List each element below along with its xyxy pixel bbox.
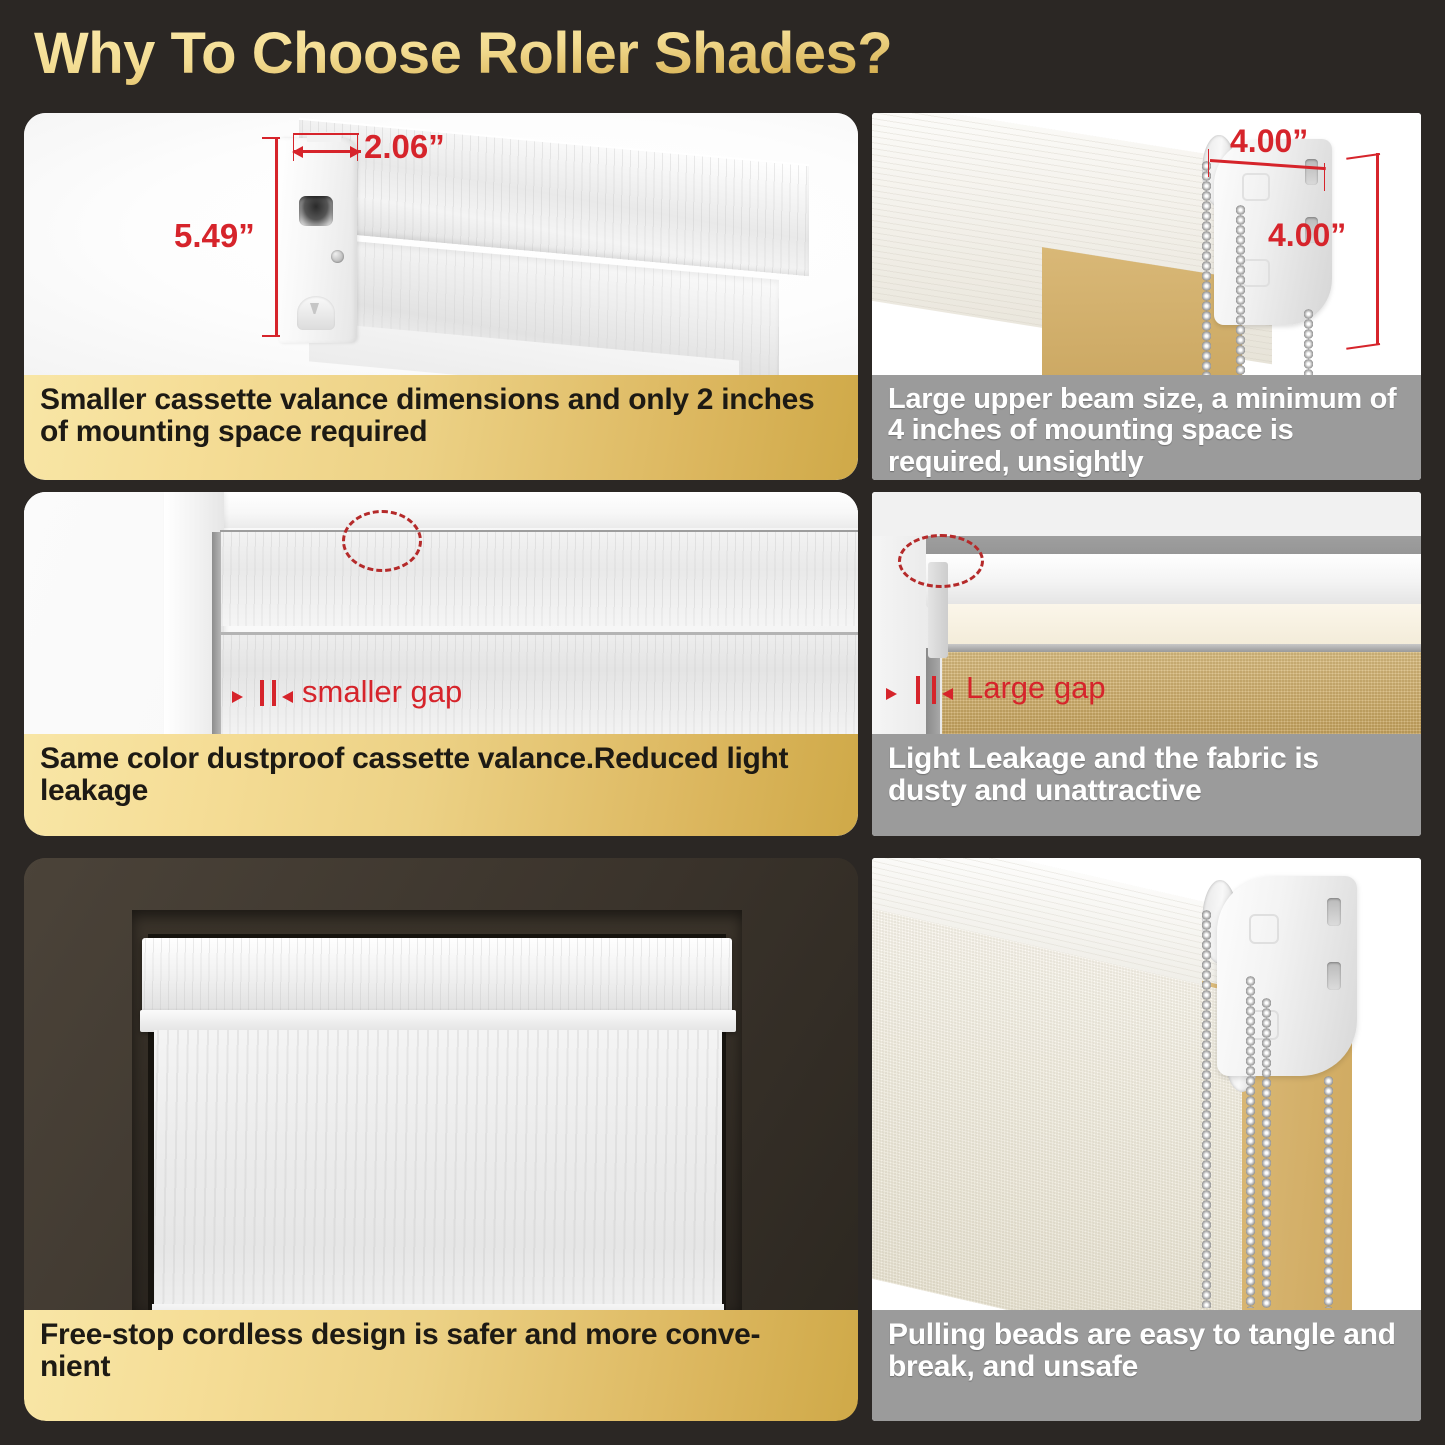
caption-text-line-2: nient xyxy=(40,1350,110,1383)
photo-window-corner-cassette: smaller gap xyxy=(24,492,858,734)
roller-bracket-head xyxy=(1217,876,1357,1076)
caption-text: Light Leakage and the fabric is dusty an… xyxy=(888,742,1319,807)
panel-bad-pull-beads: Pulling beads are easy to tangle and bre… xyxy=(872,858,1421,1421)
bracket-slot-lower xyxy=(1327,962,1341,990)
dim-tick-bottom xyxy=(1346,343,1380,350)
gap-mark-left xyxy=(260,680,264,706)
highlight-circle-icon xyxy=(898,534,984,588)
caption-good-dustproof-valance: Same color dustproof cassette valance.Re… xyxy=(24,734,858,836)
photo-large-upper-beam: 4.00” 4.00” xyxy=(872,113,1421,375)
caption-good-mounting-space: Smaller cassette valance dimensions and … xyxy=(24,375,858,480)
photo-installed-shade-with-hand xyxy=(24,858,858,1310)
gap-label-smaller: smaller gap xyxy=(302,674,462,710)
gap-arrow-right xyxy=(942,688,953,700)
end-cap-screw xyxy=(331,250,344,263)
shade-fabric xyxy=(154,1030,722,1310)
caption-bad-pull-beads: Pulling beads are easy to tangle and bre… xyxy=(872,1310,1421,1421)
shade-fabric-cream xyxy=(936,604,1421,646)
dimension-label-width: 4.00” xyxy=(1230,123,1308,160)
caption-text: Smaller cassette valance dimensions and … xyxy=(40,383,814,448)
gap-mark-right xyxy=(272,680,276,706)
caption-text: Same color dustproof cassette valance.Re… xyxy=(40,742,788,807)
highlight-circle-icon xyxy=(342,510,422,572)
end-cap-knob xyxy=(297,296,335,330)
caption-text: Pulling beads are easy to tangle and bre… xyxy=(888,1318,1396,1383)
bracket-emboss-lower xyxy=(1242,259,1270,287)
roller-tube-white xyxy=(926,554,1421,608)
bracket-slot-upper xyxy=(1305,159,1318,185)
gap-arrow-left xyxy=(232,691,243,703)
dimension-label-width: 2.06” xyxy=(364,128,445,166)
panel-good-dustproof-valance: smaller gap Same color dustproof cassett… xyxy=(24,492,858,836)
wall-upper xyxy=(872,492,1421,538)
photo-roller-with-bead-chains xyxy=(872,858,1421,1310)
dim-arrow-width-left xyxy=(292,146,303,158)
dim-arrow-width-right xyxy=(350,146,361,158)
cassette-valance xyxy=(142,938,732,1016)
dim-tick-top xyxy=(262,137,280,139)
dimension-label-height: 5.49” xyxy=(174,217,255,255)
bracket-emboss-upper xyxy=(1242,173,1270,201)
cassette-valance-lip xyxy=(140,1010,736,1032)
dimension-label-height: 4.00” xyxy=(1268,217,1346,254)
gap-mark-right xyxy=(932,676,936,704)
cassette-valance-face xyxy=(220,530,858,626)
bead-chain-2 xyxy=(1246,976,1255,1308)
window-head-trim xyxy=(164,492,858,528)
caption-bad-light-leakage: Light Leakage and the fabric is dusty an… xyxy=(872,734,1421,836)
dim-ext-left xyxy=(1208,149,1209,177)
bead-chain-1 xyxy=(1202,910,1211,1308)
caption-text-line-1: Free-stop cordless design is safer and m… xyxy=(40,1318,760,1351)
bead-chain-middle xyxy=(1236,205,1245,375)
caption-bad-beam-size: Large upper beam size, a minimum of 4 in… xyxy=(872,375,1421,480)
gap-arrow-left xyxy=(886,688,897,700)
page-title: Why To Choose Roller Shades? xyxy=(34,21,1034,87)
bead-chain-3 xyxy=(1262,998,1271,1308)
bead-chain-right xyxy=(1304,309,1313,375)
caption-text: Large upper beam size, a minimum of 4 in… xyxy=(888,383,1396,478)
caption-good-cordless-design: Free-stop cordless design is safer and m… xyxy=(24,1310,858,1421)
dim-line-height xyxy=(275,137,278,337)
gap-label-large: Large gap xyxy=(966,670,1106,706)
dim-tick-bottom xyxy=(262,335,280,337)
dim-line-height xyxy=(1376,153,1379,345)
panel-good-cordless-design: Free-stop cordless design is safer and m… xyxy=(24,858,858,1421)
infographic-root: Why To Choose Roller Shades? 2.06” xyxy=(0,0,1445,1445)
bead-chain-4 xyxy=(1324,1076,1333,1308)
panel-good-mounting-space: 2.06” 5.49” Smaller cassette valance dim… xyxy=(24,113,858,480)
gap-mark-left xyxy=(916,676,920,704)
end-cap-slot xyxy=(299,196,333,226)
gap-shadow-small xyxy=(212,532,221,734)
bracket-slot-upper xyxy=(1327,898,1341,926)
photo-cassette-valance-closeup: 2.06” 5.49” xyxy=(24,113,858,375)
dim-line-width-top xyxy=(293,133,359,135)
panel-bad-light-leakage: Large gap Light Leakage and the fabric i… xyxy=(872,492,1421,836)
bead-chain-left xyxy=(1202,161,1211,375)
panel-bad-beam-size: 4.00” 4.00” Large upper beam size, a min… xyxy=(872,113,1421,480)
gap-arrow-right xyxy=(282,691,293,703)
roller-metal-edge xyxy=(932,644,1421,652)
photo-window-corner-exposed-roller: Large gap xyxy=(872,492,1421,734)
bracket-emboss-upper xyxy=(1249,914,1279,944)
valance-end-cap xyxy=(279,138,357,343)
